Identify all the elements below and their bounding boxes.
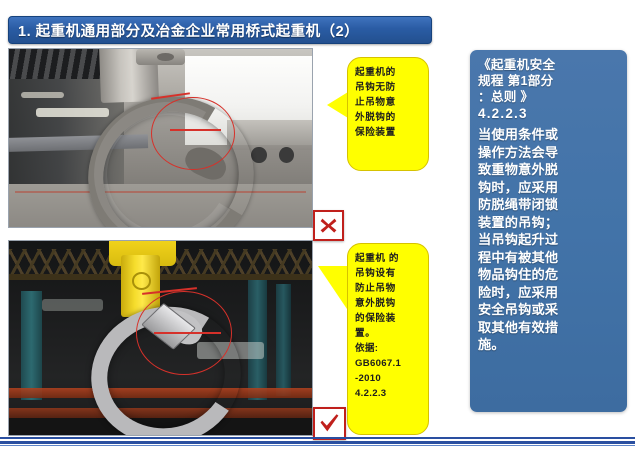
red-annotation-line [170,129,222,131]
callout-correct: 起重机 的 吊钩设有 防止吊物 意外脱钩 的保险装 置。 依据: GB6067.… [347,243,429,435]
callout-line: 意外脱钩 [355,296,422,311]
standard-body-line: 防脱绳带闭锁 [478,196,621,214]
standard-body-line: 取其他有效措 [478,319,621,337]
vehicle-wheel [251,147,266,163]
standard-body-text: 当使用条件或 操作方法会导 致重物意外脱 钩时，应采用 防脱绳带闭锁 装置的吊钩… [478,126,621,354]
callout-correct-text: 起重机 的 吊钩设有 防止吊物 意外脱钩 的保险装 置。 依据: GB6067.… [348,244,428,401]
vehicle-wheel [279,147,294,163]
background-light [42,299,103,311]
incorrect-mark-badge [313,210,344,241]
callout-standard-line: GB6067.1 [355,356,422,371]
structural-column [276,284,291,397]
callout-standard-line: -2010 [355,371,422,386]
standard-body-line: 程中有被其他 [478,249,621,267]
standard-body-line: 安全吊钩或采 [478,301,621,319]
standard-reference-panel: 《起重机安全 规程 第1部分 ：总则 》 4.2.2.3 当使用条件或 操作方法… [470,50,627,412]
footer-rule-middle [0,441,635,444]
callout-line: 吊钩无防 [355,80,422,95]
truss-cross-beam [9,274,312,280]
correct-mark-badge [313,407,346,440]
callout-incorrect-text: 起重机的 吊钩无防 止吊物意 外脱钩的 保险装置 [348,58,428,140]
standard-body-line: 当使用条件或 [478,126,621,144]
standard-body-line: 钩时，应采用 [478,179,621,197]
standard-body-line: 装置的吊钩； [478,214,621,232]
ceiling-lamp-secondary [21,92,63,98]
callout-tail-incorrect [327,92,348,118]
callout-source-label: 依据: [355,341,422,356]
slide-title-bar: 1. 起重机通用部分及冶金企业常用桥式起重机（2） [8,16,432,44]
callout-line: 的保险装 [355,311,422,326]
callout-incorrect: 起重机的 吊钩无防 止吊物意 外脱钩的 保险装置 [347,57,429,171]
callout-line: 置。 [355,326,422,341]
hook-shank-hole [132,272,151,290]
page-title: 1. 起重机通用部分及冶金企业常用桥式起重机（2） [9,20,359,41]
standard-body-line: 物品钩住的危 [478,266,621,284]
callout-line: 吊钩设有 [355,266,422,281]
red-annotation-circle [151,97,235,170]
standard-title-line: 规程 第1部分 [478,73,621,89]
red-annotation-line [154,332,221,334]
standard-title-line: ：总则 》 [478,89,621,105]
crane-hook-with-safety-latch-photo [8,240,313,436]
callout-line: 外脱钩的 [355,110,422,125]
callout-standard-line: 4.2.2.3 [355,386,422,401]
footer-rule-top [0,437,635,439]
standard-body-line: 致重物意外脱 [478,161,621,179]
standard-clause-number: 4.2.2.3 [478,105,621,122]
standard-body-line: 施。 [478,336,621,354]
hook-nut-hole [157,53,174,61]
standard-body-line: 操作方法会导 [478,144,621,162]
callout-line: 起重机 的 [355,251,422,266]
callout-line: 防止吊物 [355,281,422,296]
structural-column [21,291,42,400]
callout-line: 起重机的 [355,65,422,80]
ceiling-lamp [36,108,109,117]
check-icon [319,413,340,434]
structural-column [248,280,266,400]
slide-canvas: 1. 起重机通用部分及冶金企业常用桥式起重机（2） [0,0,635,449]
standard-body-line: 当吊钩起升过 [478,231,621,249]
standard-title-line: 《起重机安全 [478,57,621,73]
standard-body-line: 险时，应采用 [478,284,621,302]
cross-icon [319,216,338,235]
footer-rule-bottom [0,445,635,446]
crane-hook-without-safety-latch-photo [8,48,313,228]
callout-line: 保险装置 [355,125,422,140]
callout-line: 止吊物意 [355,95,422,110]
standard-title: 《起重机安全 规程 第1部分 ：总则 》 [478,57,621,105]
callout-tail-correct [318,266,349,312]
